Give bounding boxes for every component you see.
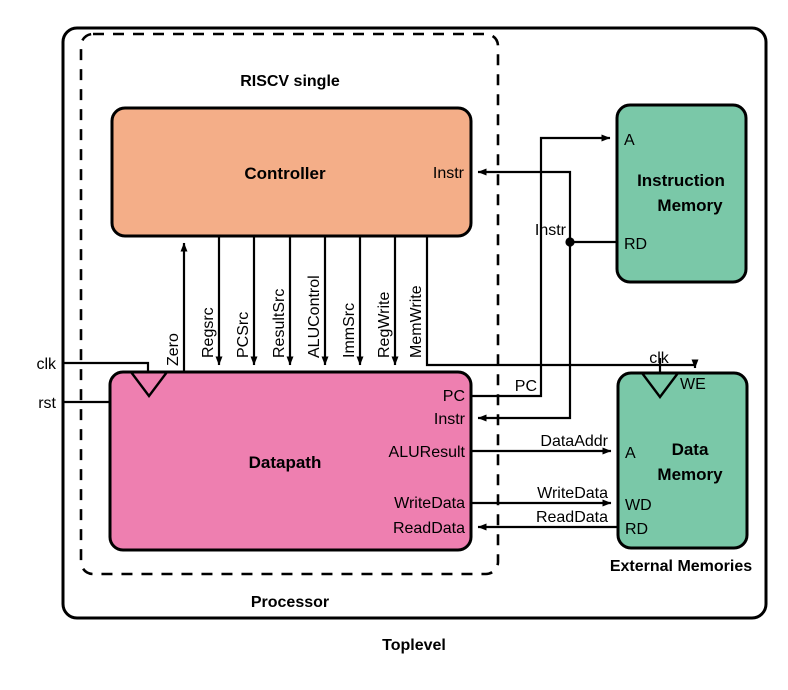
datapath-port-readdata: ReadData bbox=[393, 520, 465, 537]
input-label-rst: rst bbox=[38, 395, 56, 412]
control-label-resultsrc: ResultSrc bbox=[271, 289, 288, 358]
wire-label-readdata: ReadData bbox=[536, 509, 608, 526]
instruction-memory-port-rd: RD bbox=[624, 236, 647, 253]
instruction-memory-label-line1: Instruction bbox=[637, 171, 725, 190]
wire-label-pc-bus: PC bbox=[515, 378, 537, 395]
diagram-canvas: RISCV single Processor External Memories… bbox=[0, 0, 788, 690]
riscv-block-diagram: RISCV single Processor External Memories… bbox=[0, 0, 788, 690]
input-label-clk: clk bbox=[36, 356, 57, 373]
toplevel-label: Toplevel bbox=[382, 637, 446, 654]
control-label-alucontrol: ALUControl bbox=[306, 275, 323, 358]
control-label-regsrc: Regsrc bbox=[200, 307, 217, 358]
datapath-port-aluresult: ALUResult bbox=[389, 444, 466, 461]
control-label-memwrite: MemWrite bbox=[408, 285, 425, 358]
wire-label-dataaddr: DataAddr bbox=[540, 433, 608, 450]
control-label-immsrc: ImmSrc bbox=[341, 303, 358, 358]
data-memory-port-rd: RD bbox=[625, 521, 648, 538]
controller-port-instr: Instr bbox=[433, 165, 465, 182]
wire-label-writedata: WriteData bbox=[537, 485, 608, 502]
data-memory-label-line2: Memory bbox=[657, 465, 723, 484]
instruction-memory-label-line2: Memory bbox=[657, 196, 723, 215]
control-label-zero: Zero bbox=[165, 333, 182, 366]
external-memories-label: External Memories bbox=[610, 558, 752, 575]
datapath-label: Datapath bbox=[249, 453, 322, 472]
control-label-regwrite: RegWrite bbox=[376, 292, 393, 358]
datapath-port-writedata: WriteData bbox=[394, 495, 465, 512]
wire-label-clk-datamem: clk bbox=[649, 350, 670, 367]
block-instruction-memory[interactable] bbox=[617, 105, 746, 282]
riscv-single-title: RISCV single bbox=[240, 73, 340, 90]
data-memory-port-a: A bbox=[625, 445, 636, 462]
processor-label: Processor bbox=[251, 594, 329, 611]
data-memory-label-line1: Data bbox=[672, 440, 709, 459]
wire-label-instr-bus: Instr bbox=[535, 222, 567, 239]
instr-junction-dot bbox=[565, 237, 574, 246]
control-label-pcsrc: PCSrc bbox=[235, 312, 252, 358]
datapath-port-instr: Instr bbox=[434, 411, 466, 428]
instruction-memory-port-a: A bbox=[624, 132, 635, 149]
data-memory-port-wd: WD bbox=[625, 497, 652, 514]
controller-label: Controller bbox=[244, 164, 326, 183]
datapath-port-pc: PC bbox=[443, 388, 465, 405]
data-memory-port-we: WE bbox=[680, 376, 706, 393]
wire-pc-bus bbox=[471, 138, 610, 396]
